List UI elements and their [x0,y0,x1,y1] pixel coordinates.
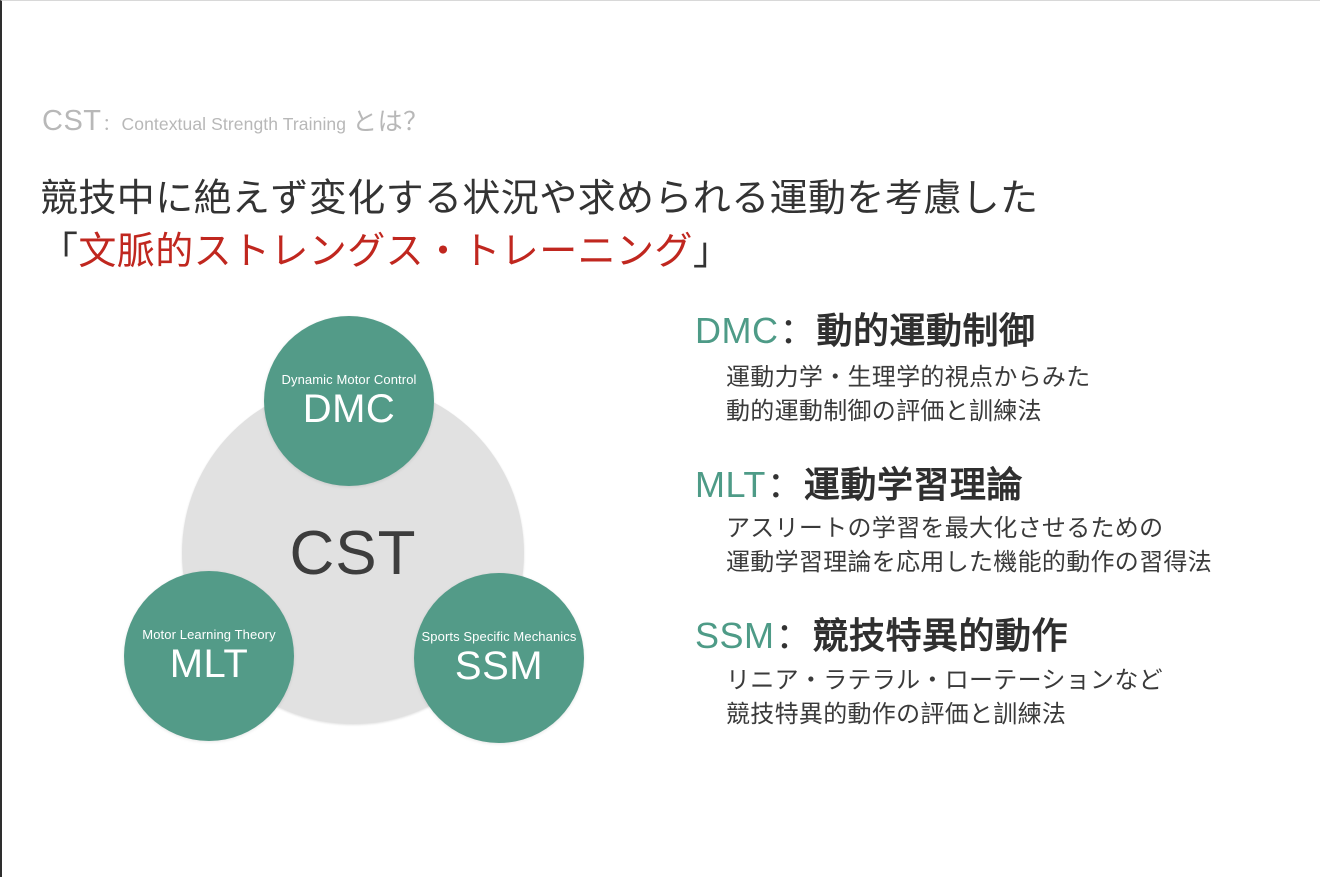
title-bracket-open: 「 [40,231,78,273]
eyebrow-colon: ： [103,110,120,135]
node-ssm-acronym: SSM [455,645,543,687]
title-line-2: 「文脈的ストレングス・トレーニング」 [40,228,1038,277]
section-ssm-desc-line-2: 競技特異的動作の評価と訓練法 [726,698,1295,732]
section-dmc-desc-line-2: 動的運動制御の評価と訓練法 [726,395,1295,429]
section-ssm-acronym: SSM [695,615,775,656]
diagram-node-ssm[interactable]: Sports Specific Mechanics SSM [414,573,584,743]
node-mlt-full-name: Motor Learning Theory [142,627,275,642]
diagram-node-mlt[interactable]: Motor Learning Theory MLT [124,571,294,741]
section-mlt-heading: MLT：運動学習理論 [695,461,1295,509]
cst-diagram: CST Dynamic Motor Control DMC Motor Lear… [102,301,622,761]
eyebrow-acronym: CST [42,105,102,138]
section-mlt-desc-line-1: アスリートの学習を最大化させるための [726,512,1295,546]
title-line-1: 競技中に絶えず変化する状況や求められる運動を考慮した [40,175,1038,224]
eyebrow-suffix: とは？ [352,102,429,138]
node-dmc-acronym: DMC [303,388,396,430]
section-ssm-heading: SSM：競技特異的動作 [695,612,1295,660]
section-mlt-title: 運動学習理論 [804,464,1023,505]
title-highlight: 文脈的ストレングス・トレーニング [78,231,692,273]
section-dmc-title: 動的運動制御 [817,310,1036,351]
section-list: DMC：動的運動制御 運動力学・生理学的視点からみた 動的運動制御の評価と訓練法… [695,307,1295,732]
node-dmc-full-name: Dynamic Motor Control [281,372,416,387]
section-dmc-desc-line-1: 運動力学・生理学的視点からみた [726,361,1295,395]
section-dmc-acronym: DMC [695,310,778,351]
section-dmc-colon: ： [779,310,815,351]
eyebrow-header: CST ： Contextual Strength Training とは？ [42,102,429,138]
section-mlt-desc-line-2: 運動学習理論を応用した機能的動作の習得法 [726,546,1295,580]
node-mlt-acronym: MLT [170,643,249,685]
section-mlt-acronym: MLT [695,464,766,505]
section-ssm-colon: ： [776,615,812,656]
section-ssm-desc-line-1: リニア・ラテラル・ローテーションなど [726,664,1295,698]
node-ssm-full-name: Sports Specific Mechanics [422,629,577,644]
section-dmc-heading: DMC：動的運動制御 [695,307,1295,355]
section-mlt-colon: ： [767,464,803,505]
title-bracket-close: 」 [693,231,731,273]
slide-canvas: CST ： Contextual Strength Training とは？ 競… [0,0,1320,877]
diagram-node-dmc[interactable]: Dynamic Motor Control DMC [264,316,434,486]
section-ssm-title: 競技特異的動作 [813,615,1069,656]
eyebrow-full-name: Contextual Strength Training [122,114,347,135]
section-ssm: SSM：競技特異的動作 リニア・ラテラル・ローテーションなど 競技特異的動作の評… [695,612,1295,732]
section-dmc: DMC：動的運動制御 運動力学・生理学的視点からみた 動的運動制御の評価と訓練法 [695,307,1295,429]
page-title: 競技中に絶えず変化する状況や求められる運動を考慮した 「文脈的ストレングス・トレ… [40,175,1038,276]
section-mlt: MLT：運動学習理論 アスリートの学習を最大化させるための 運動学習理論を応用し… [695,461,1295,581]
